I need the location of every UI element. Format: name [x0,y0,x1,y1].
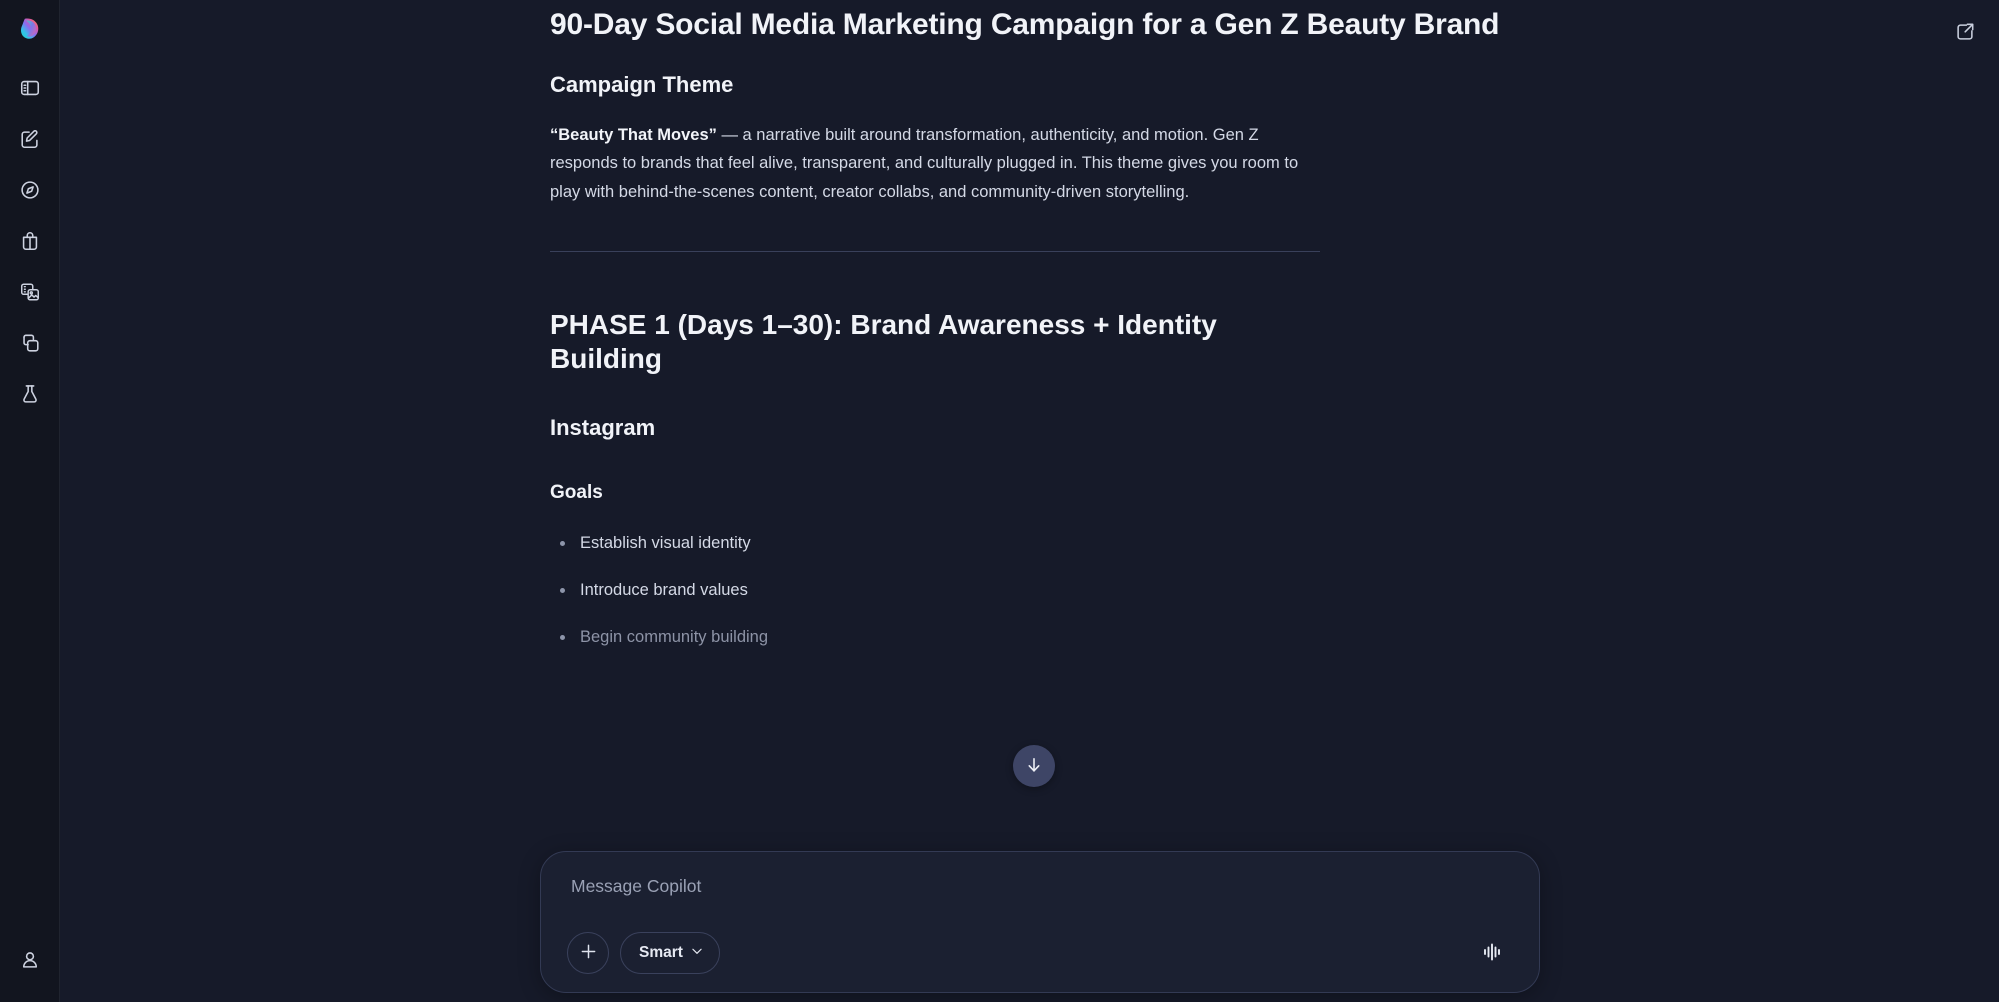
copilot-logo-icon[interactable] [13,12,47,46]
arrow-down-icon [1024,755,1044,778]
mode-selector-button[interactable]: Smart [620,932,720,974]
voice-mode-button[interactable] [1471,932,1513,974]
goals-heading: Goals [550,482,1530,505]
theme-quote: “Beauty That Moves” [550,126,717,144]
list-item: Establish visual identity [550,531,1530,556]
flask-icon[interactable] [8,372,52,416]
message-composer: Smart [540,851,1540,994]
campaign-theme-paragraph: “Beauty That Moves” — a narrative built … [550,121,1310,206]
phase-1-heading: PHASE 1 (Days 1–30): Brand Awareness + I… [550,308,1270,375]
scroll-to-bottom-button[interactable] [1013,745,1055,787]
compass-icon[interactable] [8,168,52,212]
account-person-icon[interactable] [8,938,52,982]
section-divider [550,251,1320,252]
list-item: Introduce brand values [550,578,1530,603]
sidebar-toggle-icon[interactable] [8,66,52,110]
copilot-app: 90-Day Social Media Marketing Campaign f… [0,0,1999,1002]
goals-list: Establish visual identity Introduce bran… [550,531,1530,649]
composer-toolbar: Smart [567,932,1513,974]
left-sidebar [0,0,60,1002]
plus-icon [578,941,599,965]
media-gallery-icon[interactable] [8,270,52,314]
pages-copy-icon[interactable] [8,321,52,365]
mode-selector-label: Smart [639,944,683,962]
platform-heading-instagram: Instagram [550,415,1530,441]
shopping-bag-icon[interactable] [8,219,52,263]
compose-icon[interactable] [8,117,52,161]
search-input[interactable] [567,874,1513,903]
chevron-down-icon [690,944,704,963]
campaign-theme-heading: Campaign Theme [550,72,1530,98]
share-icon[interactable] [1945,12,1985,52]
list-item: Begin community building [550,625,1530,650]
add-attachment-button[interactable] [567,932,609,974]
voice-waveform-icon [1480,940,1504,967]
main-content: 90-Day Social Media Marketing Campaign f… [60,0,1999,1002]
assistant-response-article: 90-Day Social Media Marketing Campaign f… [550,0,1530,672]
page-title: 90-Day Social Media Marketing Campaign f… [550,8,1500,42]
